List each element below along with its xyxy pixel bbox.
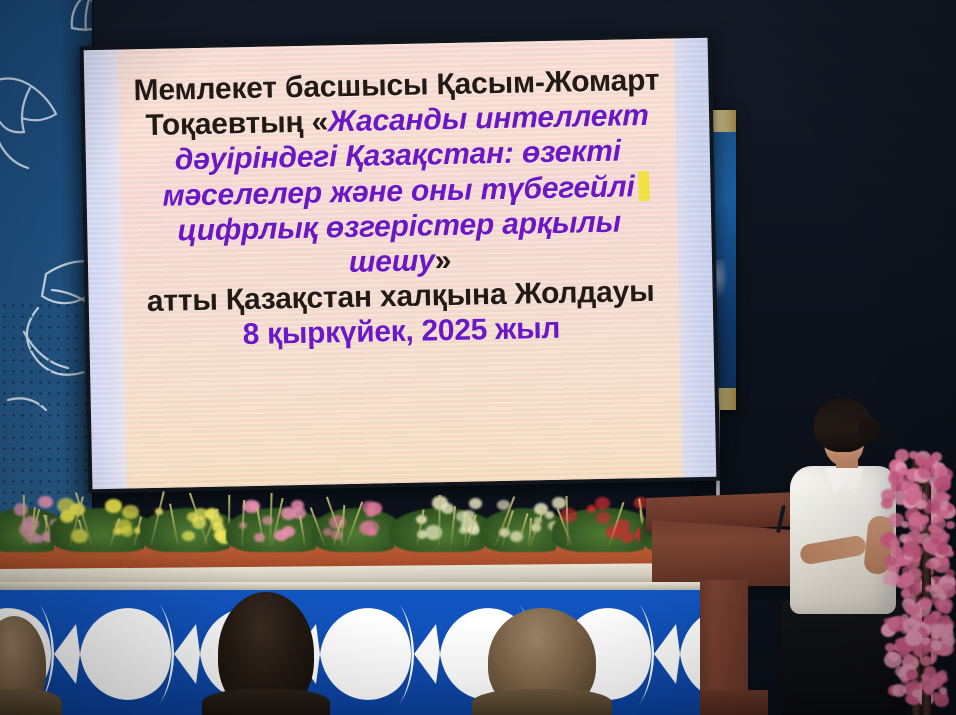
blossom-flower: [920, 656, 932, 667]
slide-text-block: Мемлекет басшысы Қасым-Жомарт Тоқаевтың …: [110, 64, 688, 357]
highlight-mark: [638, 171, 650, 201]
flower-blossom: [620, 531, 634, 543]
blossom-flower: [908, 517, 926, 533]
slide-line-6-quote: шешу: [348, 244, 435, 279]
speaker-hair-bun: [858, 418, 880, 442]
blossom-flower: [933, 672, 946, 684]
flower-blossom: [552, 497, 566, 509]
blossom-flower: [947, 504, 954, 511]
blossom-flower: [903, 618, 920, 633]
blossom-flower: [902, 541, 920, 557]
flower-blossom: [121, 526, 134, 537]
flower-blossom: [595, 497, 610, 510]
flower-blossom: [212, 522, 224, 532]
blossom-flower: [883, 571, 899, 586]
blossom-flower: [934, 476, 951, 491]
blossom-flower: [912, 689, 922, 698]
blossom-flower: [908, 568, 922, 580]
flower-blossom: [38, 496, 52, 508]
slide-line-2-prefix: Тоқаевтың «: [145, 106, 328, 143]
flower-blossom: [596, 512, 611, 525]
flower-blossom: [368, 529, 377, 536]
flower-blossom: [323, 528, 332, 536]
blossom-flower: [906, 669, 918, 680]
flower-planter-row: [0, 466, 710, 578]
blossom-flower: [930, 586, 944, 598]
blossom-flower: [936, 543, 949, 555]
screenshot-root: Мемлекет басшысы Қасым-Жомарт Тоқаевтың …: [0, 0, 956, 715]
pink-blossom-tree-back: [898, 455, 956, 715]
blossom-flower: [884, 555, 896, 566]
blossom-flower: [902, 480, 914, 491]
grass-blade: [45, 515, 47, 546]
blossom-flower: [905, 654, 913, 661]
blossom-flower: [939, 615, 950, 625]
blossom-flower: [942, 606, 951, 614]
audience-shoulder: [202, 689, 330, 715]
blossom-flower: [931, 537, 940, 545]
flower-blossom: [182, 531, 194, 541]
blossom-flower: [881, 489, 895, 502]
projection-screen: Мемлекет басшысы Қасым-Жомарт Тоқаевтың …: [80, 34, 721, 494]
blossom-flower: [924, 614, 936, 625]
flower-blossom: [14, 503, 29, 515]
blossom-flower: [945, 569, 955, 578]
flower-blossom: [105, 499, 122, 514]
slide-line-2-quote: Жасанды интеллект: [328, 99, 649, 138]
projection-screen-surface: Мемлекет басшысы Қасым-Жомарт Тоқаевтың …: [84, 38, 717, 489]
slide-line-6-closequote: »: [434, 244, 451, 277]
audience-shoulder: [472, 689, 612, 715]
blossom-flower: [924, 685, 934, 694]
audience-shoulder: [0, 689, 62, 715]
flower-blossom: [469, 498, 482, 509]
